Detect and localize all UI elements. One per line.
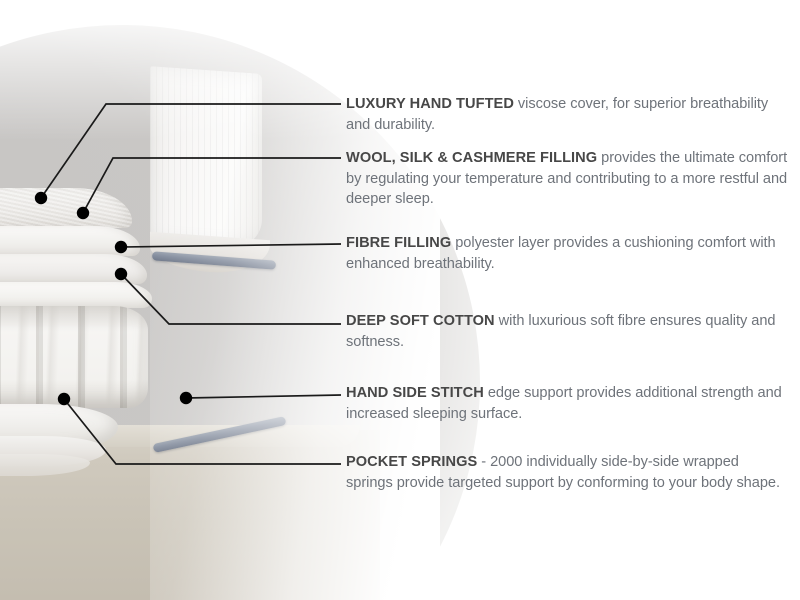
callout-deep-soft-cotton: DEEP SOFT COTTON with luxurious soft fib… (346, 311, 788, 352)
callout-title: FIBRE FILLING (346, 235, 451, 251)
callout-text-column: LUXURY HAND TUFTED viscose cover, for su… (346, 0, 794, 600)
callout-title: POCKET SPRINGS (346, 454, 477, 470)
leader-line-deep-soft-cotton (121, 274, 341, 324)
callout-pocket-springs: POCKET SPRINGS - 2000 individually side-… (346, 452, 788, 493)
callout-wool-silk-cashmere-filling: WOOL, SILK & CASHMERE FILLING provides t… (346, 148, 788, 210)
callout-title: WOOL, SILK & CASHMERE FILLING (346, 150, 597, 166)
leader-line-pocket-springs (64, 399, 341, 464)
callout-marker-luxury-hand-tufted (35, 192, 47, 204)
leader-line-luxury-hand-tufted (41, 104, 341, 198)
callout-marker-wool-silk-cashmere-filling (77, 207, 89, 219)
infographic-canvas: LUXURY HAND TUFTED viscose cover, for su… (0, 0, 800, 600)
callout-hand-side-stitch: HAND SIDE STITCH edge support provides a… (346, 383, 788, 424)
callout-marker-hand-side-stitch (180, 392, 192, 404)
callout-title: DEEP SOFT COTTON (346, 313, 495, 329)
callout-marker-pocket-springs (58, 393, 70, 405)
callout-title: HAND SIDE STITCH (346, 385, 484, 401)
callout-luxury-hand-tufted: LUXURY HAND TUFTED viscose cover, for su… (346, 94, 788, 135)
callout-marker-deep-soft-cotton (115, 268, 127, 280)
leader-line-wool-silk-cashmere-filling (83, 158, 341, 213)
leader-line-fibre-filling (121, 244, 341, 247)
callout-title: LUXURY HAND TUFTED (346, 96, 514, 112)
leader-line-hand-side-stitch (186, 395, 341, 398)
callout-fibre-filling: FIBRE FILLING polyester layer provides a… (346, 233, 788, 274)
callout-marker-fibre-filling (115, 241, 127, 253)
